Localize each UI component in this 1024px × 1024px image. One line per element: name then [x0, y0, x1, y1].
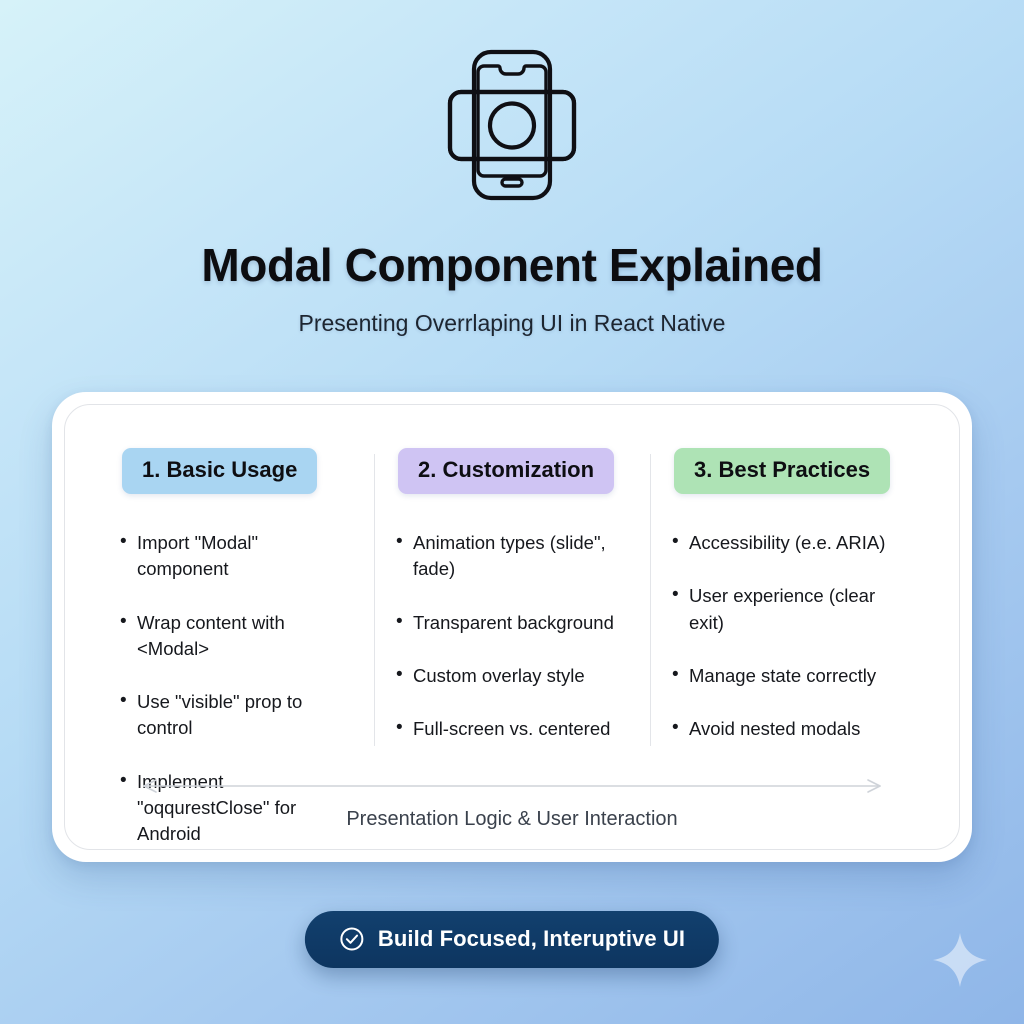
bullet-list-best-practices: Accessibility (e.e. ARIA) User experienc…: [672, 530, 904, 742]
list-item: Manage state correctly: [672, 663, 904, 689]
axis-caption: Presentation Logic & User Interaction: [52, 808, 972, 831]
column-heading-best-practices: 3. Best Practices: [674, 448, 890, 494]
list-item: Use "visible" prop to control: [120, 689, 352, 742]
status-badge[interactable]: Build Focused, Interuptive UI: [305, 911, 719, 968]
list-item: Avoid nested modals: [672, 716, 904, 742]
double-arrow-icon: [140, 778, 884, 794]
list-item: Full-screen vs. centered: [396, 716, 628, 742]
list-item: Transparent background: [396, 610, 628, 636]
phone-modal-overlay-icon: [436, 46, 588, 204]
column-heading-customization: 2. Customization: [398, 448, 614, 494]
bullet-list-customization: Animation types (slide", fade) Transpare…: [396, 530, 628, 742]
list-item: Accessibility (e.e. ARIA): [672, 530, 904, 556]
check-circle-icon: [339, 926, 365, 952]
list-item: Custom overlay style: [396, 663, 628, 689]
hero-icon: [436, 46, 588, 204]
list-item: Import "Modal" component: [120, 530, 352, 583]
bullet-list-basic-usage: Import "Modal" component Wrap content wi…: [120, 530, 352, 847]
sparkle-decoration: [932, 932, 988, 988]
column-heading-basic-usage: 1. Basic Usage: [122, 448, 317, 494]
list-item: Wrap content with <Modal>: [120, 610, 352, 663]
list-item: User experience (clear exit): [672, 583, 904, 636]
main-card: 1. Basic Usage Import "Modal" component …: [52, 392, 972, 862]
status-badge-label: Build Focused, Interuptive UI: [378, 926, 685, 952]
page-subtitle: Presenting Overrlaping UI in React Nativ…: [0, 310, 1024, 337]
list-item: Animation types (slide", fade): [396, 530, 628, 583]
axis-arrow: [140, 778, 884, 794]
page-title: Modal Component Explained: [0, 238, 1024, 292]
sparkle-icon: [932, 932, 988, 988]
